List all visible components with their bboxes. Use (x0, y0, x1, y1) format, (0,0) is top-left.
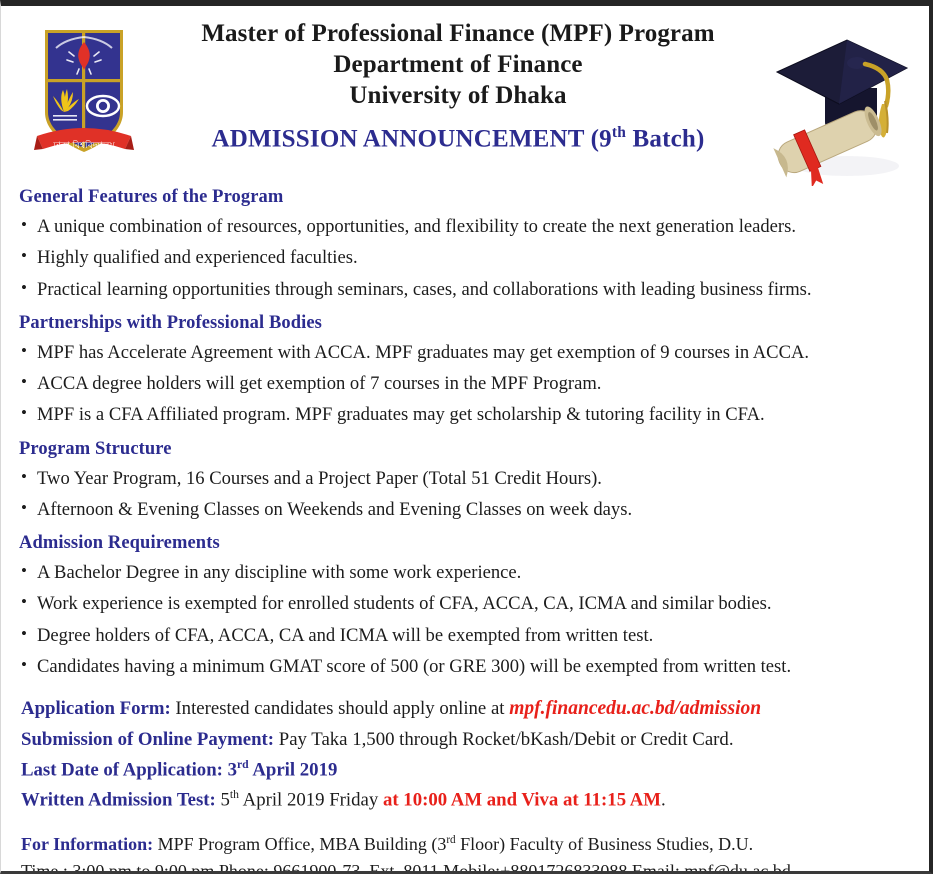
list-item: ACCA degree holders will get exemption o… (19, 370, 911, 398)
office-address-before: MPF Program Office, MBA Building (3 (158, 834, 447, 854)
header-title-block: Master of Professional Finance (MPF) Pro… (149, 18, 767, 153)
list-item: Candidates having a minimum GMAT score o… (19, 653, 911, 681)
written-test-label: Written Admission Test: (21, 789, 216, 810)
floor-ordinal-suffix: rd (446, 834, 455, 846)
contact-footer: For Information: MPF Program Office, MBA… (19, 831, 911, 874)
list-item: Highly qualified and experienced faculti… (19, 244, 911, 272)
section-general-features: General Features of the Program A unique… (19, 187, 911, 304)
section-bullet-list: A unique combination of resources, oppor… (19, 213, 911, 304)
written-test-date-rest: April 2019 Friday (239, 789, 383, 810)
announcement-prefix: ADMISSION ANNOUNCEMENT (9 (211, 125, 611, 152)
list-item: Degree holders of CFA, ACCA, CA and ICMA… (19, 622, 911, 650)
list-item: Practical learning opportunities through… (19, 276, 911, 304)
university-of-dhaka-crest-icon: ঢাকা বিশ্ববিদ্যালয় (31, 22, 137, 167)
last-date-ordinal-suffix: rd (237, 758, 249, 771)
written-test-ordinal-suffix: th (230, 788, 239, 801)
list-item: A Bachelor Degree in any discipline with… (19, 559, 911, 587)
application-form-label: Application Form: (21, 698, 171, 719)
application-url-link[interactable]: mpf.financedu.ac.bd/admission (509, 698, 761, 719)
list-item: Afternoon & Evening Classes on Weekends … (19, 496, 911, 524)
office-address-after: Floor) Faculty of Business Studies, D.U. (456, 834, 754, 854)
list-item: MPF has Accelerate Agreement with ACCA. … (19, 339, 911, 367)
section-bullet-list: A Bachelor Degree in any discipline with… (19, 559, 911, 681)
application-form-text: Interested candidates should apply onlin… (175, 698, 504, 719)
admission-announcement-poster: ঢাকা বিশ্ববিদ্যালয় Master of Profession… (0, 0, 933, 874)
section-bullet-list: Two Year Program, 16 Courses and a Proje… (19, 465, 911, 525)
announcement-ordinal-suffix: th (612, 124, 626, 141)
graduation-cap-diploma-icon (769, 16, 911, 186)
section-heading: Partnerships with Professional Bodies (19, 313, 911, 334)
section-heading: Admission Requirements (19, 533, 911, 554)
application-form-line: Application Form: Interested candidates … (21, 695, 911, 724)
written-test-line: Written Admission Test: 5th April 2019 F… (21, 786, 911, 814)
payment-label: Submission of Online Payment: (21, 729, 274, 750)
announcement-suffix: Batch) (626, 125, 704, 152)
section-partnerships: Partnerships with Professional Bodies MP… (19, 313, 911, 430)
section-admission-requirements: Admission Requirements A Bachelor Degree… (19, 533, 911, 681)
svg-text:ঢাকা বিশ্ববিদ্যালয়: ঢাকা বিশ্ববিদ্যালয় (52, 140, 115, 150)
list-item: MPF is a CFA Affiliated program. MPF gra… (19, 401, 911, 429)
poster-header: ঢাকা বিশ্ববিদ্যালয় Master of Profession… (9, 6, 917, 178)
list-item: Work experience is exempted for enrolled… (19, 590, 911, 618)
last-date-line: Last Date of Application: 3rd April 2019 (21, 756, 911, 784)
application-details-block: Application Form: Interested candidates … (19, 695, 911, 814)
section-heading: General Features of the Program (19, 187, 911, 208)
contact-details-line: Time : 3:00 pm to 9:00 pm Phone: 9661900… (21, 858, 911, 874)
last-date-rest: April 2019 (249, 759, 338, 780)
payment-line: Submission of Online Payment: Pay Taka 1… (21, 726, 911, 754)
announcement-heading: ADMISSION ANNOUNCEMENT (9th Batch) (149, 124, 767, 153)
office-address-line: For Information: MPF Program Office, MBA… (21, 831, 911, 858)
written-test-period: . (661, 789, 666, 810)
last-date-label: Last Date of Application: (21, 759, 223, 780)
section-program-structure: Program Structure Two Year Program, 16 C… (19, 439, 911, 525)
written-test-day: 5 (221, 789, 230, 810)
program-title-line-2: Department of Finance (149, 49, 767, 80)
section-bullet-list: MPF has Accelerate Agreement with ACCA. … (19, 339, 911, 430)
section-heading: Program Structure (19, 439, 911, 460)
list-item: Two Year Program, 16 Courses and a Proje… (19, 465, 911, 493)
program-title-line-3: University of Dhaka (149, 80, 767, 111)
for-information-label: For Information: (21, 834, 153, 854)
written-test-time: at 10:00 AM and Viva at 11:15 AM (383, 789, 661, 810)
poster-content: General Features of the Program A unique… (9, 187, 917, 874)
poster-inner: ঢাকা বিশ্ববিদ্যালয় Master of Profession… (1, 6, 929, 871)
program-title-line-1: Master of Professional Finance (MPF) Pro… (149, 18, 767, 49)
payment-text: Pay Taka 1,500 through Rocket/bKash/Debi… (279, 729, 734, 750)
last-date-day: 3 (228, 759, 237, 780)
list-item: A unique combination of resources, oppor… (19, 213, 911, 241)
